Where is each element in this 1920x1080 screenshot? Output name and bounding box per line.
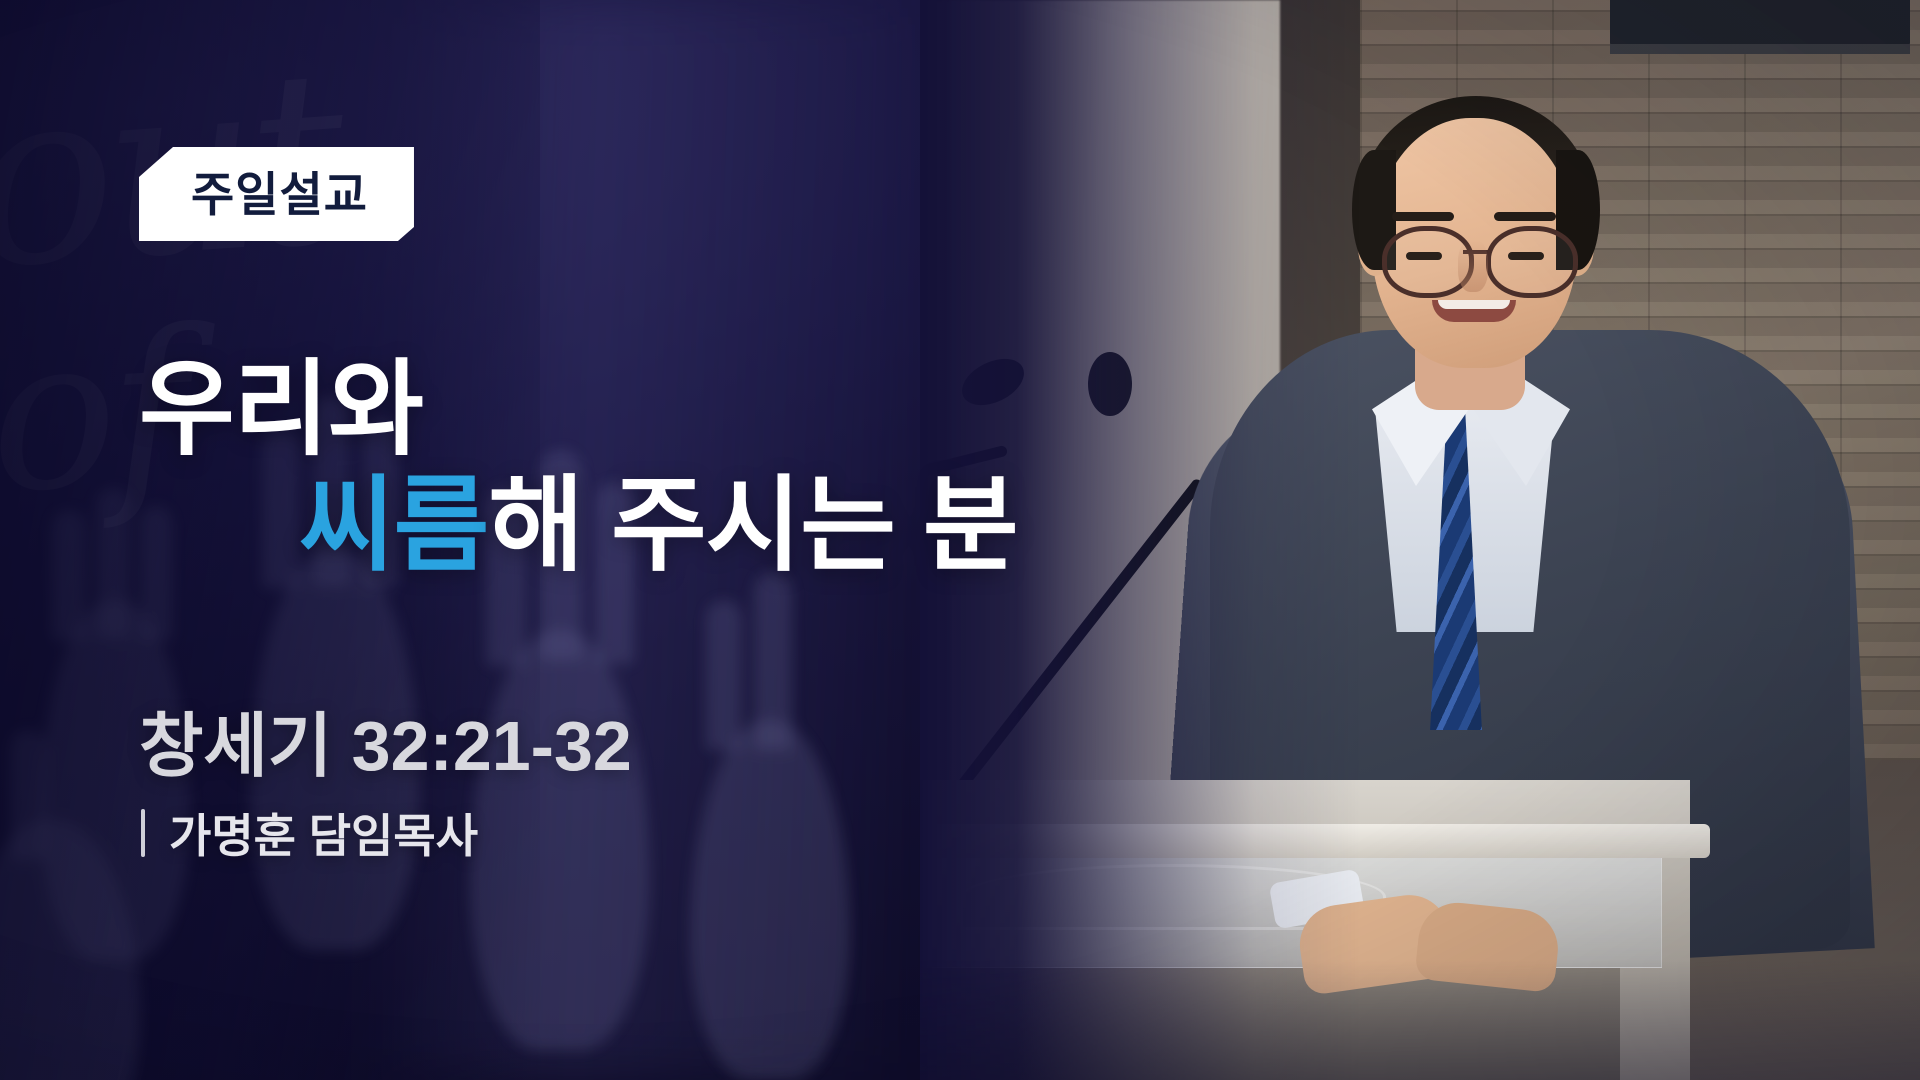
speaker-name: 가명훈 담임목사: [169, 800, 478, 866]
sermon-title-card: out of: [0, 0, 1920, 1080]
sermon-category-label: 주일설교: [191, 171, 368, 218]
speaker-divider-bar: [141, 809, 145, 857]
text-overlay: 주일설교 우리와 씨름해 주시는 분 창세기 32:21-32 가명훈 담임목사: [0, 0, 1920, 1080]
speaker-row: 가명훈 담임목사: [141, 800, 478, 866]
sermon-title: 우리와 씨름해 주시는 분: [139, 352, 1239, 585]
sermon-title-line-1: 우리와: [139, 352, 1239, 468]
sermon-title-line-2: 씨름해 주시는 분: [139, 468, 1239, 584]
sermon-title-line-2-rest: 해 주시는 분: [488, 468, 1017, 584]
sermon-title-highlight: 씨름: [299, 468, 488, 584]
sermon-category-badge: 주일설교: [139, 147, 414, 241]
scripture-reference: 창세기 32:21-32: [139, 690, 632, 791]
